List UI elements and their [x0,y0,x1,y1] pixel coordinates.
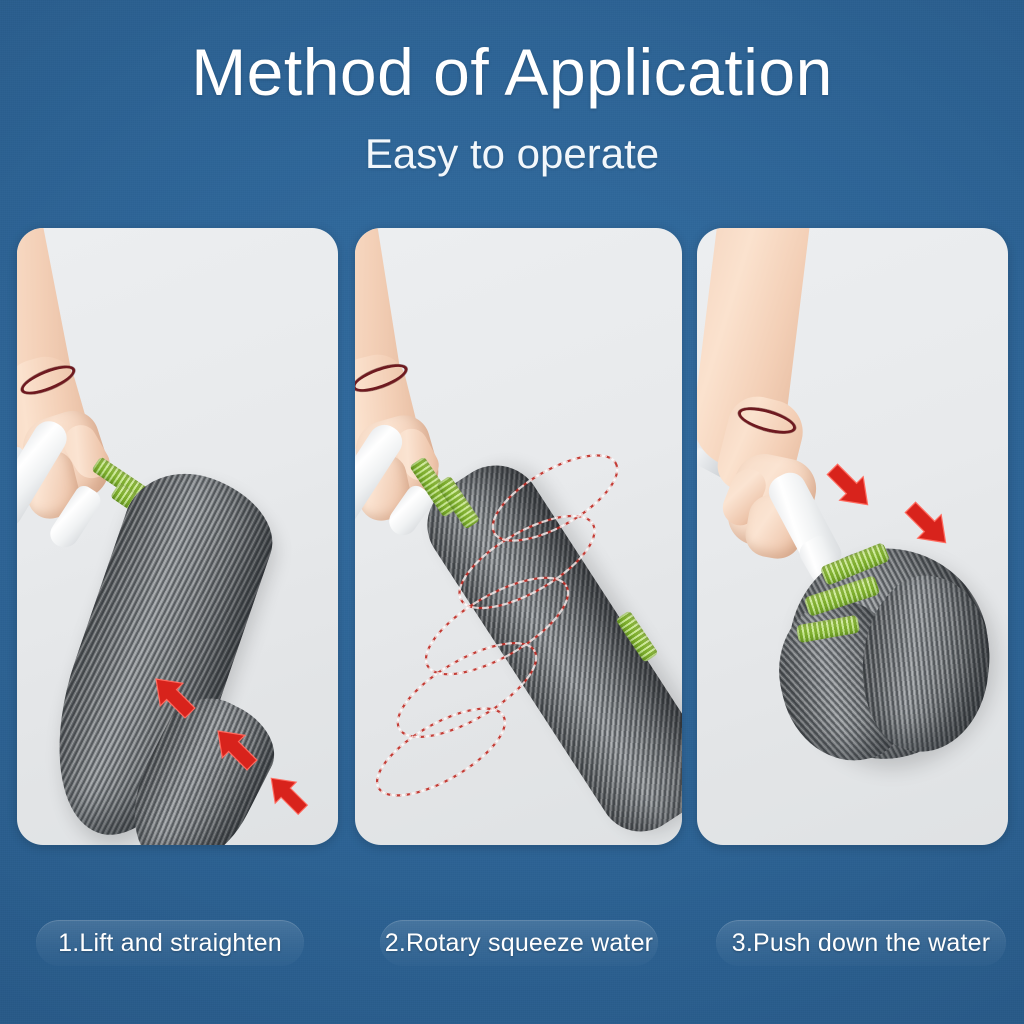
step-caption-1: 1.Lift and straighten [36,920,304,966]
step-3-photo [697,228,1008,845]
step-panel-1 [17,228,338,845]
step-caption-2-label: 2.Rotary squeeze water [385,929,653,958]
step-panel-2 [355,228,682,845]
step-1-photo [17,228,338,845]
page-title: Method of Application [0,36,1024,108]
motion-arrow-1 [821,458,879,516]
step-caption-1-label: 1.Lift and straighten [58,929,282,958]
step-panel-3 [697,228,1008,845]
motion-arrow-3 [261,768,313,820]
step-caption-3-label: 3.Push down the water [732,929,991,958]
motion-arrow-2 [207,720,263,776]
step-2-photo [355,228,682,845]
infographic-stage: Method of Application Easy to operate [0,0,1024,1024]
step-caption-2: 2.Rotary squeeze water [380,920,658,966]
step-caption-3: 3.Push down the water [716,920,1006,966]
motion-arrow-1 [145,668,201,724]
page-subtitle: Easy to operate [0,130,1024,178]
rotation-spiral [355,440,679,845]
motion-arrow-2 [899,496,957,554]
